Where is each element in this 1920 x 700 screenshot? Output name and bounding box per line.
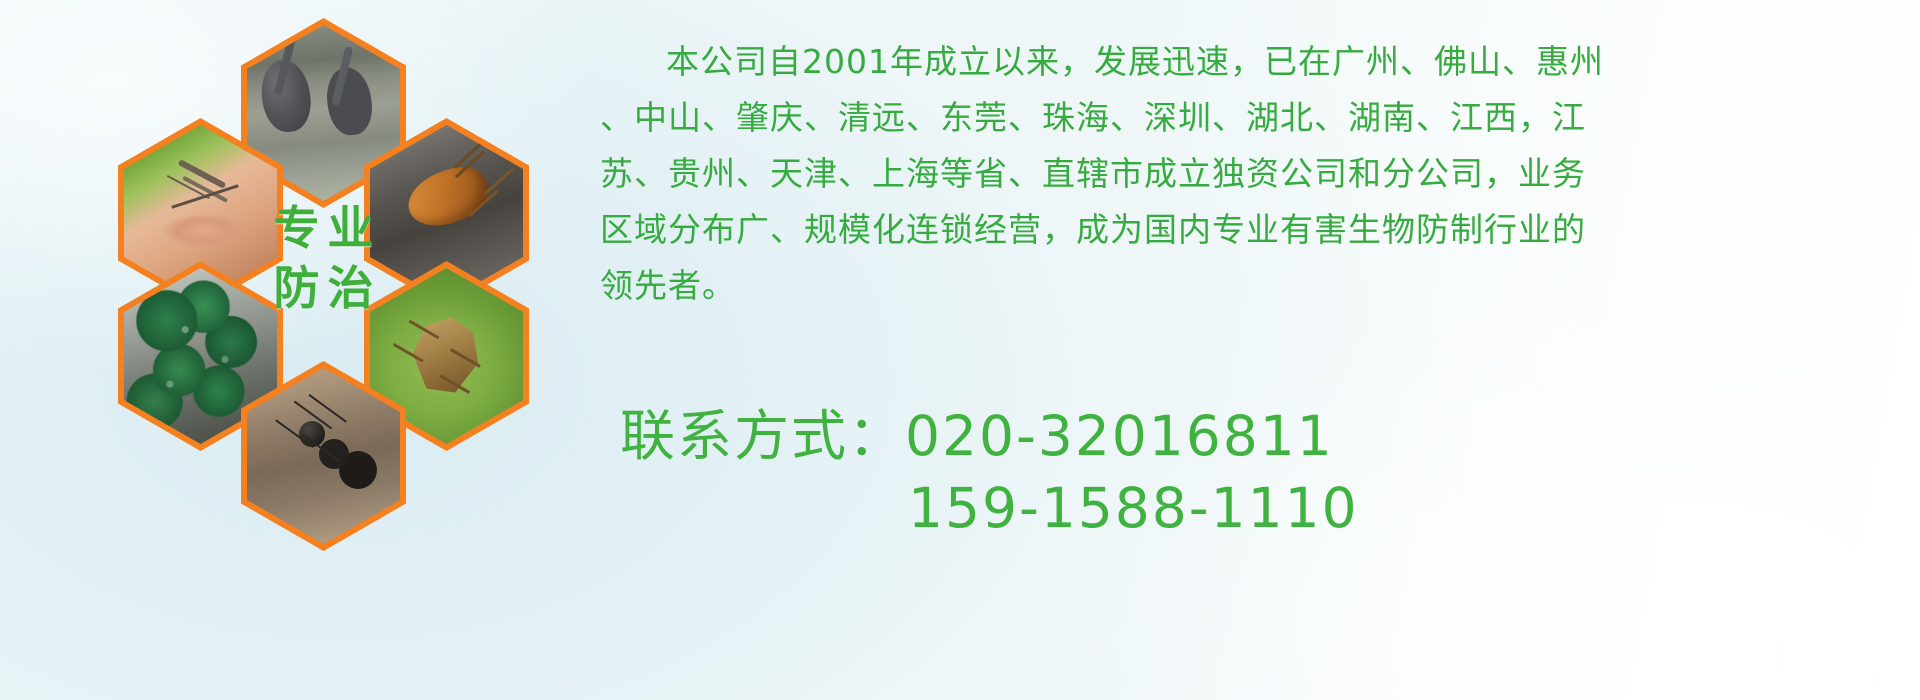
logo-hexagon-label: 专业 防治 xyxy=(241,158,406,358)
intro-line-2: 、中山、肇庆、清远、东莞、珠海、深圳、湖北、湖南、江西，江 xyxy=(600,90,1885,146)
intro-line-3: 苏、贵州、天津、上海等省、直辖市成立独资公司和分公司，业务 xyxy=(600,146,1885,202)
company-intro-paragraph: 本公司自2001年成立以来，发展迅速，已在广州、佛山、惠州 、中山、肇庆、清远、… xyxy=(600,34,1885,314)
hex-photo-ant-inner xyxy=(247,368,400,544)
contact-primary-phone[interactable]: 联系方式：020-32016811 xyxy=(620,400,1359,472)
logo-line-2: 防治 xyxy=(266,265,382,311)
intro-line-5: 领先者。 xyxy=(600,258,1885,314)
promo-banner: 专业 防治 本公司自2001年成立以来，发展迅速，已在广州、佛山、惠州 、中山、… xyxy=(0,0,1920,700)
logo-line-1: 专业 xyxy=(266,205,382,251)
hexagon-photo-cluster: 专业 防治 xyxy=(78,8,598,568)
ant-image xyxy=(247,368,400,544)
company-intro-block: 本公司自2001年成立以来，发展迅速，已在广州、佛山、惠州 、中山、肇庆、清远、… xyxy=(600,34,1900,314)
intro-line-4: 区域分布广、规模化连锁经营，成为国内专业有害生物防制行业的 xyxy=(600,202,1885,258)
contact-block: 联系方式：020-32016811 159-1588-1110 xyxy=(620,400,1359,544)
contact-secondary-phone[interactable]: 159-1588-1110 xyxy=(620,472,1359,544)
intro-line-1: 本公司自2001年成立以来，发展迅速，已在广州、佛山、惠州 xyxy=(600,34,1885,90)
